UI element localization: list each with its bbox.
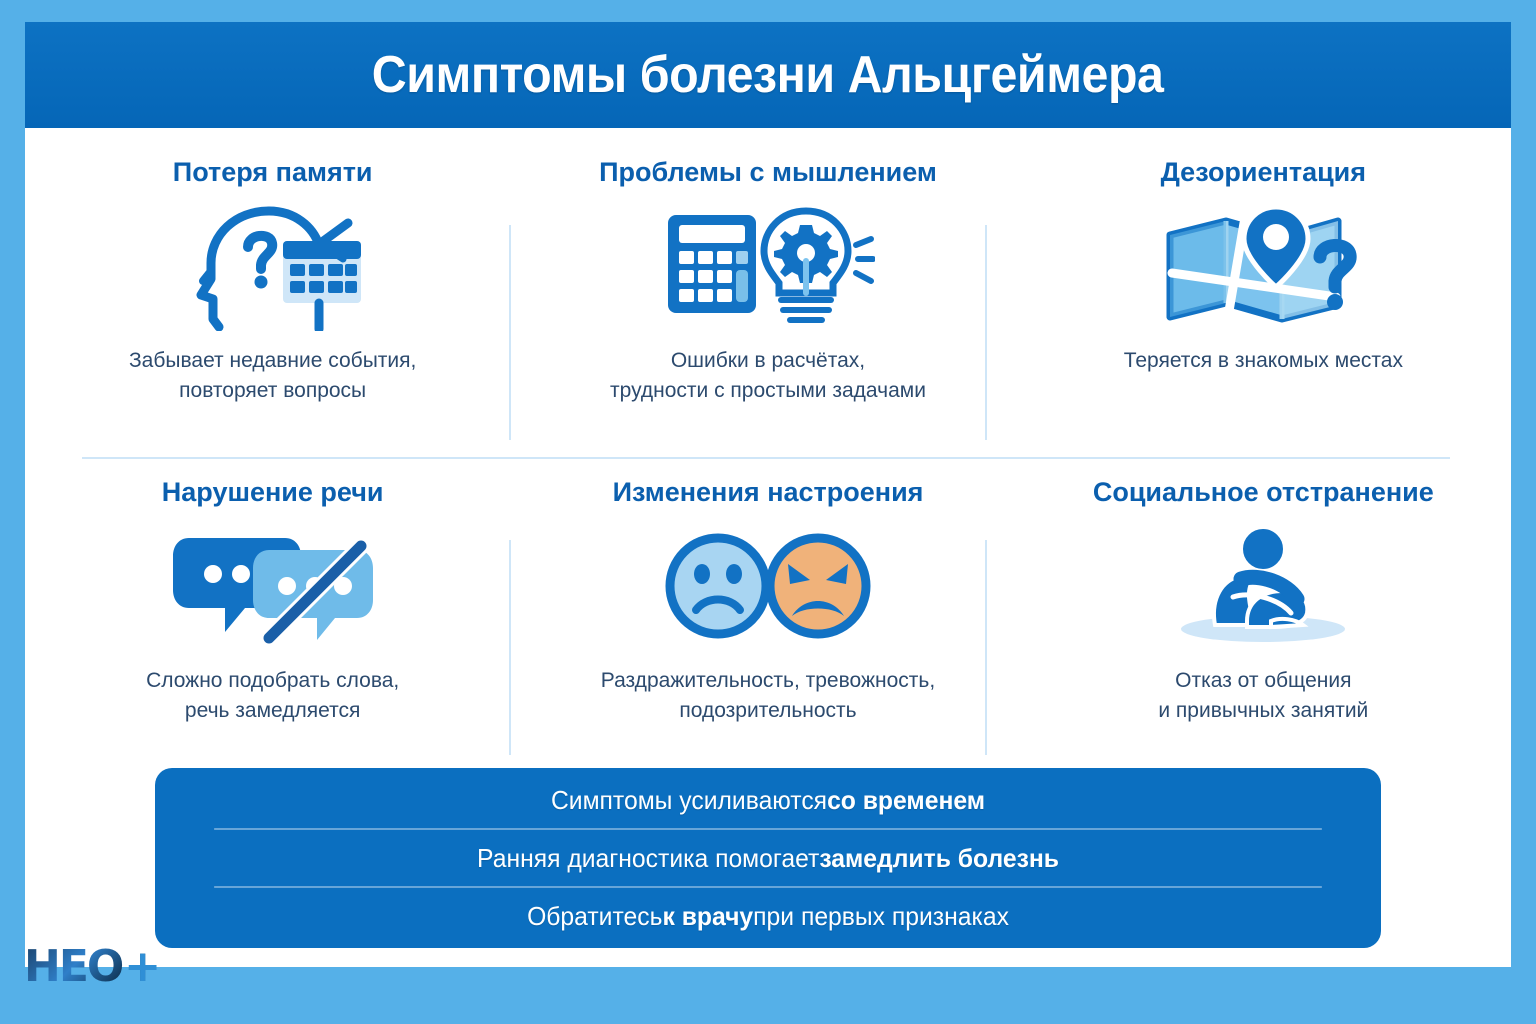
key-point-tail: при первых признаках bbox=[753, 901, 1009, 932]
symptom-description: Раздражительность, тревожность, подозрит… bbox=[601, 666, 935, 727]
key-point-row: Обратитесь к врачу при первых признаках bbox=[214, 886, 1322, 944]
symptoms-grid: Потеря памяти bbox=[25, 128, 1511, 768]
key-point-strong: к врачу bbox=[662, 901, 753, 932]
symptom-card-memory-loss[interactable]: Потеря памяти bbox=[25, 128, 520, 448]
key-point-strong: замедлить болезнь bbox=[819, 843, 1059, 874]
speech-bubbles-crossed-icon bbox=[165, 520, 380, 652]
symptom-description: Забывает недавние события, повторяет воп… bbox=[129, 346, 416, 407]
poster-root: Симптомы болезни Альцгеймера Потеря памя… bbox=[0, 0, 1536, 1024]
symptom-title: Нарушение речи bbox=[162, 478, 384, 508]
symptom-title: Социальное отстранение bbox=[1093, 478, 1434, 508]
symptom-title: Проблемы с мышлением bbox=[599, 158, 937, 188]
poster-header: Симптомы болезни Альцгеймера bbox=[25, 22, 1511, 128]
key-point-row: Симптомы усиливаются со временем bbox=[214, 772, 1322, 828]
key-point-lead: Симптомы усиливаются bbox=[551, 785, 827, 816]
grid-divider-vertical bbox=[509, 225, 511, 440]
symptom-title: Дезориентация bbox=[1161, 158, 1366, 188]
grid-divider-horizontal bbox=[82, 457, 1450, 459]
map-pin-question-icon bbox=[1158, 200, 1368, 332]
brand-logo: НЕО+ bbox=[24, 941, 159, 992]
symptom-card-disorientation[interactable]: Дезориентация bbox=[1016, 128, 1511, 448]
key-points-panel: Симптомы усиливаются со временем Ранняя … bbox=[155, 768, 1381, 948]
key-point-lead: Обратитесь bbox=[527, 901, 662, 932]
symptom-card-mood-changes[interactable]: Изменения настроения Раздражительность, … bbox=[520, 448, 1015, 768]
symptom-title: Изменения настроения bbox=[613, 478, 924, 508]
brand-logo-plus: + bbox=[124, 941, 159, 992]
brand-logo-text: НЕО bbox=[24, 941, 122, 992]
symptom-description: Отказ от общения и привычных занятий bbox=[1158, 666, 1368, 727]
grid-divider-vertical bbox=[985, 225, 987, 440]
key-point-row: Ранняя диагностика помогает замедлить бо… bbox=[214, 828, 1322, 886]
symptom-title: Потеря памяти bbox=[173, 158, 373, 188]
key-point-lead: Ранняя диагностика помогает bbox=[477, 843, 819, 874]
symptom-description: Теряется в знакомых местах bbox=[1124, 346, 1403, 376]
symptom-card-thinking-problems[interactable]: Проблемы с мышлением bbox=[520, 128, 1015, 448]
person-sitting-alone-icon bbox=[1163, 520, 1363, 652]
sad-angry-faces-icon bbox=[662, 520, 874, 652]
page-title: Симптомы болезни Альцгеймера bbox=[372, 45, 1164, 105]
head-question-calendar-icon bbox=[173, 200, 373, 332]
grid-divider-vertical bbox=[509, 540, 511, 755]
key-point-strong: со временем bbox=[827, 785, 985, 816]
grid-divider-vertical bbox=[985, 540, 987, 755]
symptom-description: Ошибки в расчётах, трудности с простыми … bbox=[610, 346, 926, 407]
symptom-card-social-withdrawal[interactable]: Социальное отстранение bbox=[1016, 448, 1511, 768]
symptom-card-speech-impairment[interactable]: Нарушение речи bbox=[25, 448, 520, 768]
symptom-description: Сложно подобрать слова, речь замедляется bbox=[146, 666, 399, 727]
calculator-lightbulb-gear-icon bbox=[660, 200, 875, 332]
